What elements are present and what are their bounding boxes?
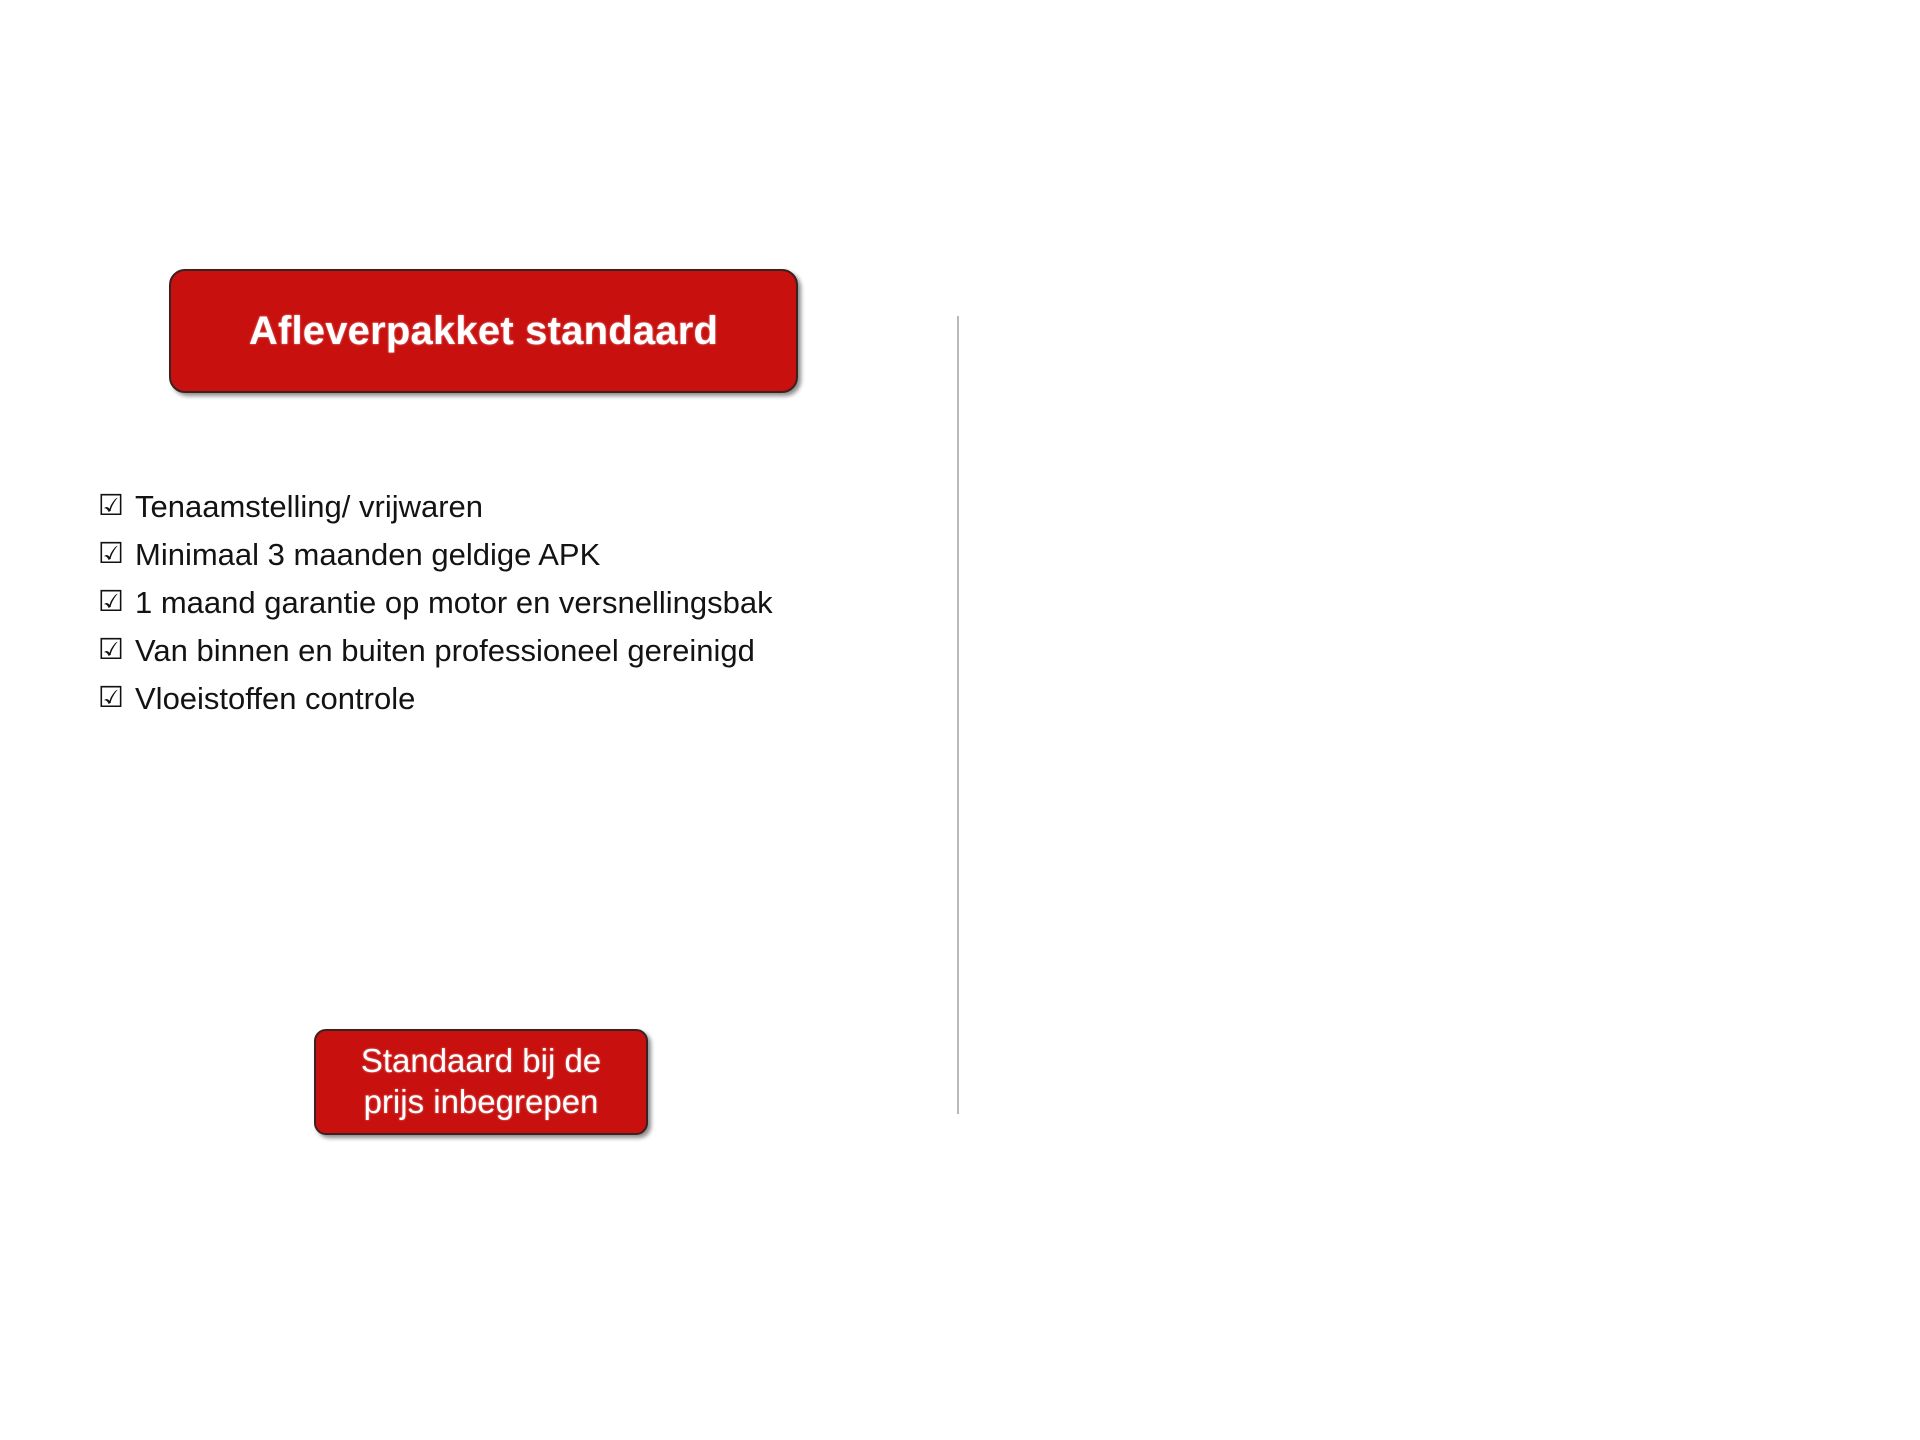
list-item: ☑ Tenaamstelling/ vrijwaren [98,485,898,529]
list-item: ☑ Vloeistoffen controle [98,677,898,721]
checked-box-icon: ☑ [98,533,124,574]
column-divider [957,316,959,1114]
banner-standard: Afleverpakket standaard [169,269,798,393]
slide-root: Afleverpakket standaard ☑ Tenaamstelling… [0,0,1920,1440]
checked-box-icon: ☑ [98,677,124,718]
list-item-label: Minimaal 3 maanden geldige APK [135,533,898,577]
banner-standard-title: Afleverpakket standaard [249,309,718,354]
checked-box-icon: ☑ [98,485,124,526]
checked-box-icon: ☑ [98,581,124,622]
badge-standard-included: Standaard bij de prijs inbegrepen [314,1029,648,1135]
list-item-label: Van binnen en buiten professioneel gerei… [135,629,898,673]
list-item-label: Vloeistoffen controle [135,677,898,721]
checked-box-icon: ☑ [98,629,124,670]
checklist-standard: ☑ Tenaamstelling/ vrijwaren ☑ Minimaal 3… [98,485,898,725]
badge-standard-included-label: Standaard bij de prijs inbegrepen [332,1041,630,1123]
list-item-label: Tenaamstelling/ vrijwaren [135,485,898,529]
list-item: ☑ Van binnen en buiten professioneel ger… [98,629,898,673]
list-item: ☑ 1 maand garantie op motor en versnelli… [98,581,898,625]
list-item: ☑ Minimaal 3 maanden geldige APK [98,533,898,577]
list-item-label: 1 maand garantie op motor en versnelling… [135,581,898,625]
